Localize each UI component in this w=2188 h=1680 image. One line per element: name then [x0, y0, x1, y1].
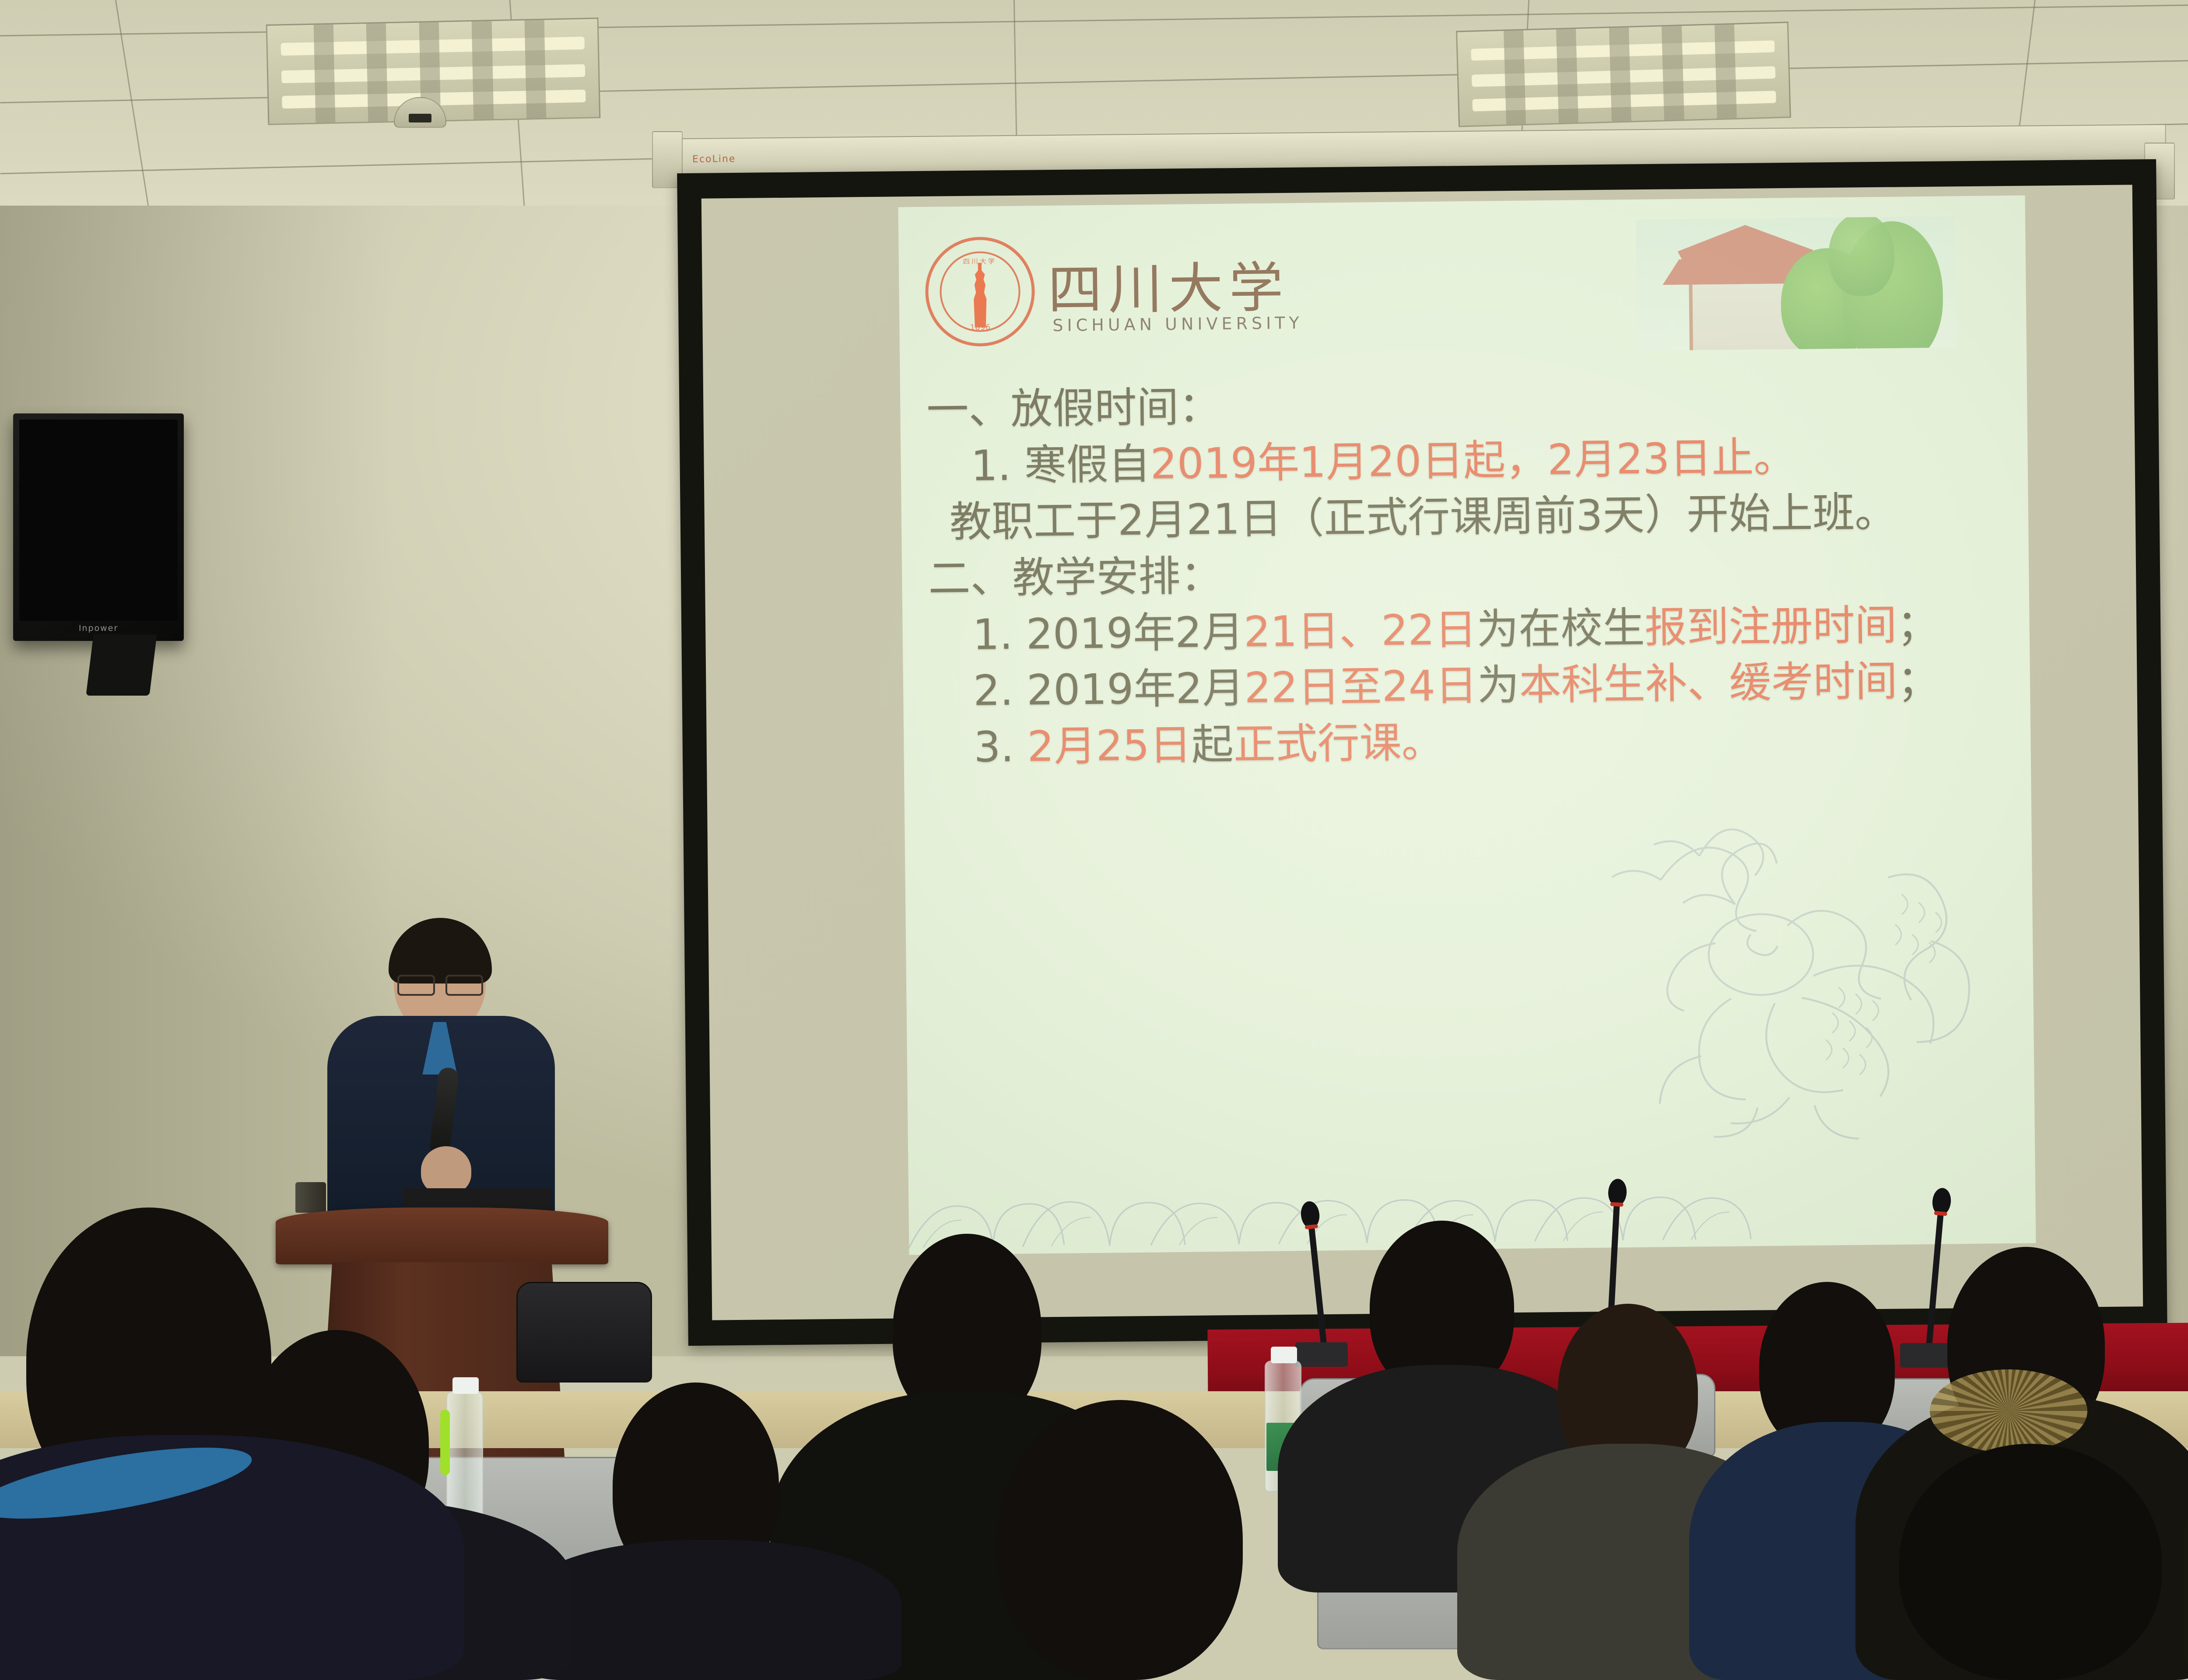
university-name-cn: 四川大学	[1047, 243, 1290, 325]
projected-slide: 四川大学 1896 四川大学 SICHUAN UNIVERSITY 一、放假时间…	[898, 196, 2036, 1255]
audience-head-foreground	[1899, 1444, 2162, 1680]
slide-line-5: 1. 2019年2月21日、22日为在校生报到注册时间；	[972, 595, 2030, 663]
slide-line-6-seg-4: 本科生补、缓考时间	[1519, 657, 1897, 710]
wave-pattern-icon	[908, 1132, 1763, 1255]
ceiling-light-right	[1456, 21, 1791, 127]
slide-line-6-seg-2: 22日至24日	[1244, 661, 1477, 713]
university-name-en: SICHUAN UNIVERSITY	[1052, 313, 1303, 335]
wall-speaker: Inpower	[13, 413, 184, 641]
slide-line-7: 3. 2月25日起正式行课。	[974, 708, 2031, 775]
sichuan-university-logo-icon: 四川大学 1896	[925, 236, 1035, 347]
podium-cup	[295, 1182, 326, 1213]
slide-line-4-seg-1: 二、教学安排：	[928, 551, 1223, 603]
microphone-base-3	[1900, 1343, 1953, 1368]
slide-line-3-seg-1: 教职工于2月21日（正式行课周前3天）开始上班。	[949, 488, 1897, 547]
presenter-hair	[389, 918, 492, 983]
screen-brand-label: EcoLine	[692, 154, 736, 165]
slide-line-2-seg-2: 2019年1月20日起，2月23日止。	[1150, 433, 1796, 488]
microphone-base-1	[1295, 1342, 1348, 1367]
lecture-hall-photo: EcoLine 四川大学 1896 四川大学 SICHUAN UNIVERSIT…	[0, 0, 2188, 1680]
logo-tower-glyph	[968, 262, 992, 328]
slide-header: 四川大学 1896 四川大学 SICHUAN UNIVERSITY	[898, 213, 2027, 369]
slide-line-2: 1. 寒假自2019年1月20日起，2月23日止。	[971, 427, 2028, 494]
audience-shoulders	[516, 1540, 901, 1680]
stage-chair	[516, 1282, 652, 1382]
slide-line-5-seg-3: 为在校生	[1476, 603, 1645, 654]
slide-line-2-seg-1: 1. 寒假自	[971, 439, 1150, 490]
slide-line-6: 2. 2019年2月22日至24日为本科生补、缓考时间；	[973, 652, 2030, 719]
slide-line-6-seg-5: ；	[1897, 656, 1939, 706]
slide-line-7-seg-3: 起	[1191, 720, 1234, 769]
slide-line-5-seg-1: 1. 2019年2月	[972, 607, 1244, 659]
speaker-mount-bracket	[86, 634, 157, 696]
slide-line-7-seg-4: 正式行课。	[1233, 717, 1444, 769]
slide-line-7-seg-1: 3.	[974, 722, 1027, 771]
campus-building-photo	[1636, 216, 1957, 351]
slide-line-1-seg-1: 一、放假时间：	[926, 382, 1221, 434]
slide-line-5-seg-5: ；	[1897, 600, 1939, 649]
speaker-brand-label: Inpower	[13, 623, 184, 633]
slide-text-body: 一、放假时间：1. 寒假自2019年1月20日起，2月23日止。教职工于2月21…	[900, 371, 2031, 776]
fur-hood-trim	[1930, 1369, 2087, 1452]
slide-line-3: 教职工于2月21日（正式行课周前3天）开始上班。	[949, 483, 2028, 550]
slide-line-7-seg-2: 2月25日	[1027, 720, 1192, 771]
speaker-grille	[19, 420, 178, 621]
slide-line-6-seg-1: 2. 2019年2月	[973, 663, 1245, 715]
slide-line-5-seg-2: 21日、22日	[1244, 605, 1477, 656]
slide-line-5-seg-4: 报到注册时间	[1645, 600, 1897, 652]
glasses-icon	[397, 975, 483, 992]
logo-year: 1896	[929, 322, 1032, 332]
audience-head-foreground	[998, 1400, 1243, 1680]
slide-line-6-seg-3: 为	[1477, 661, 1519, 710]
presenter-hand	[421, 1146, 471, 1194]
podium-top-surface	[276, 1207, 608, 1264]
